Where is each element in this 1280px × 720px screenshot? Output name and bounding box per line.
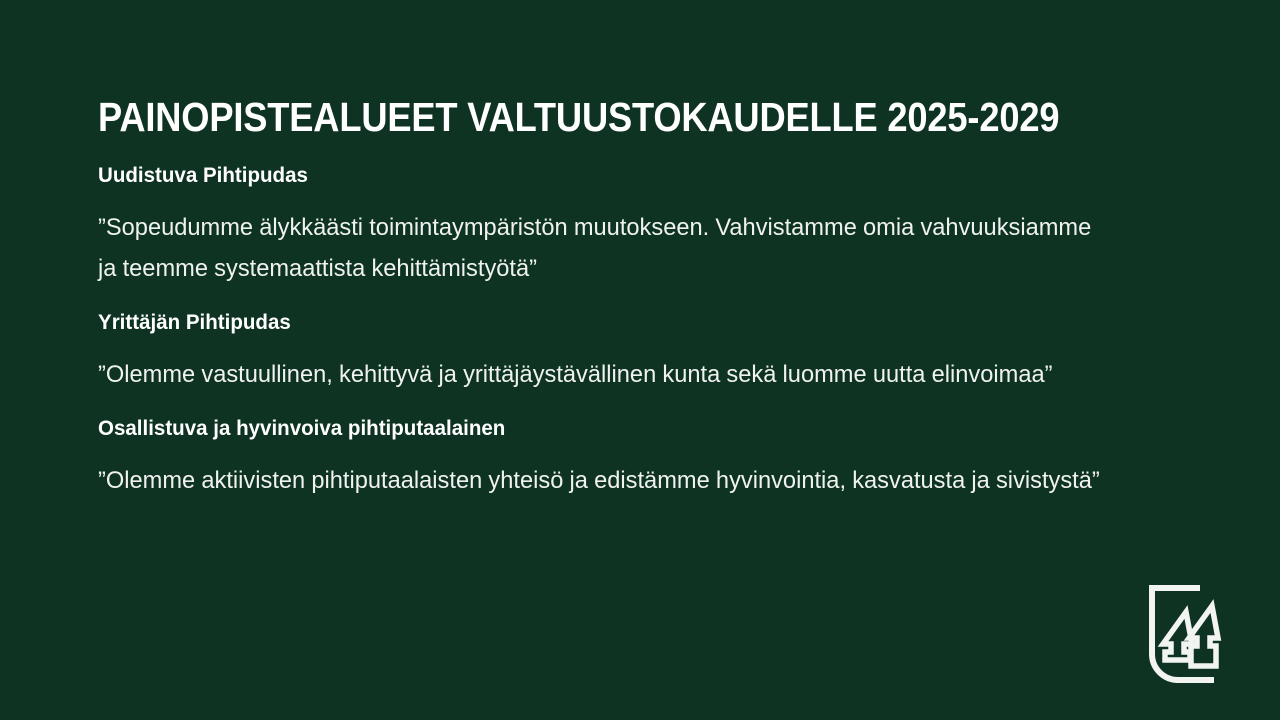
pihtipudas-logo-icon	[1142, 582, 1246, 690]
spacer	[98, 289, 1128, 309]
slide-content: PAINOPISTEALUEET VALTUUSTOKAUDELLE 2025-…	[98, 94, 1128, 501]
page-title: PAINOPISTEALUEET VALTUUSTOKAUDELLE 2025-…	[98, 94, 1010, 140]
spacer	[98, 441, 1128, 460]
slide-canvas: PAINOPISTEALUEET VALTUUSTOKAUDELLE 2025-…	[0, 0, 1280, 720]
section-quote-3: ”Olemme aktiivisten pihtiputaalaisten yh…	[98, 460, 1106, 501]
spacer	[98, 188, 1128, 207]
section-quote-1: ”Sopeudumme älykkäästi toimintaympäristö…	[98, 207, 1106, 289]
section-block-1: Uudistuva Pihtipudas ”Sopeudumme älykkää…	[98, 162, 1128, 289]
section-quote-2: ”Olemme vastuullinen, kehittyvä ja yritt…	[98, 354, 1106, 395]
tree-right-icon	[1189, 606, 1218, 666]
section-heading-1: Uudistuva Pihtipudas	[98, 162, 1082, 188]
section-block-2: Yrittäjän Pihtipudas ”Olemme vastuulline…	[98, 309, 1128, 395]
section-heading-3: Osallistuva ja hyvinvoiva pihtiputaalain…	[98, 415, 1082, 441]
section-heading-2: Yrittäjän Pihtipudas	[98, 309, 1082, 335]
logo	[1142, 582, 1246, 690]
spacer	[98, 335, 1128, 354]
spacer	[98, 395, 1128, 415]
section-block-3: Osallistuva ja hyvinvoiva pihtiputaalain…	[98, 415, 1128, 501]
